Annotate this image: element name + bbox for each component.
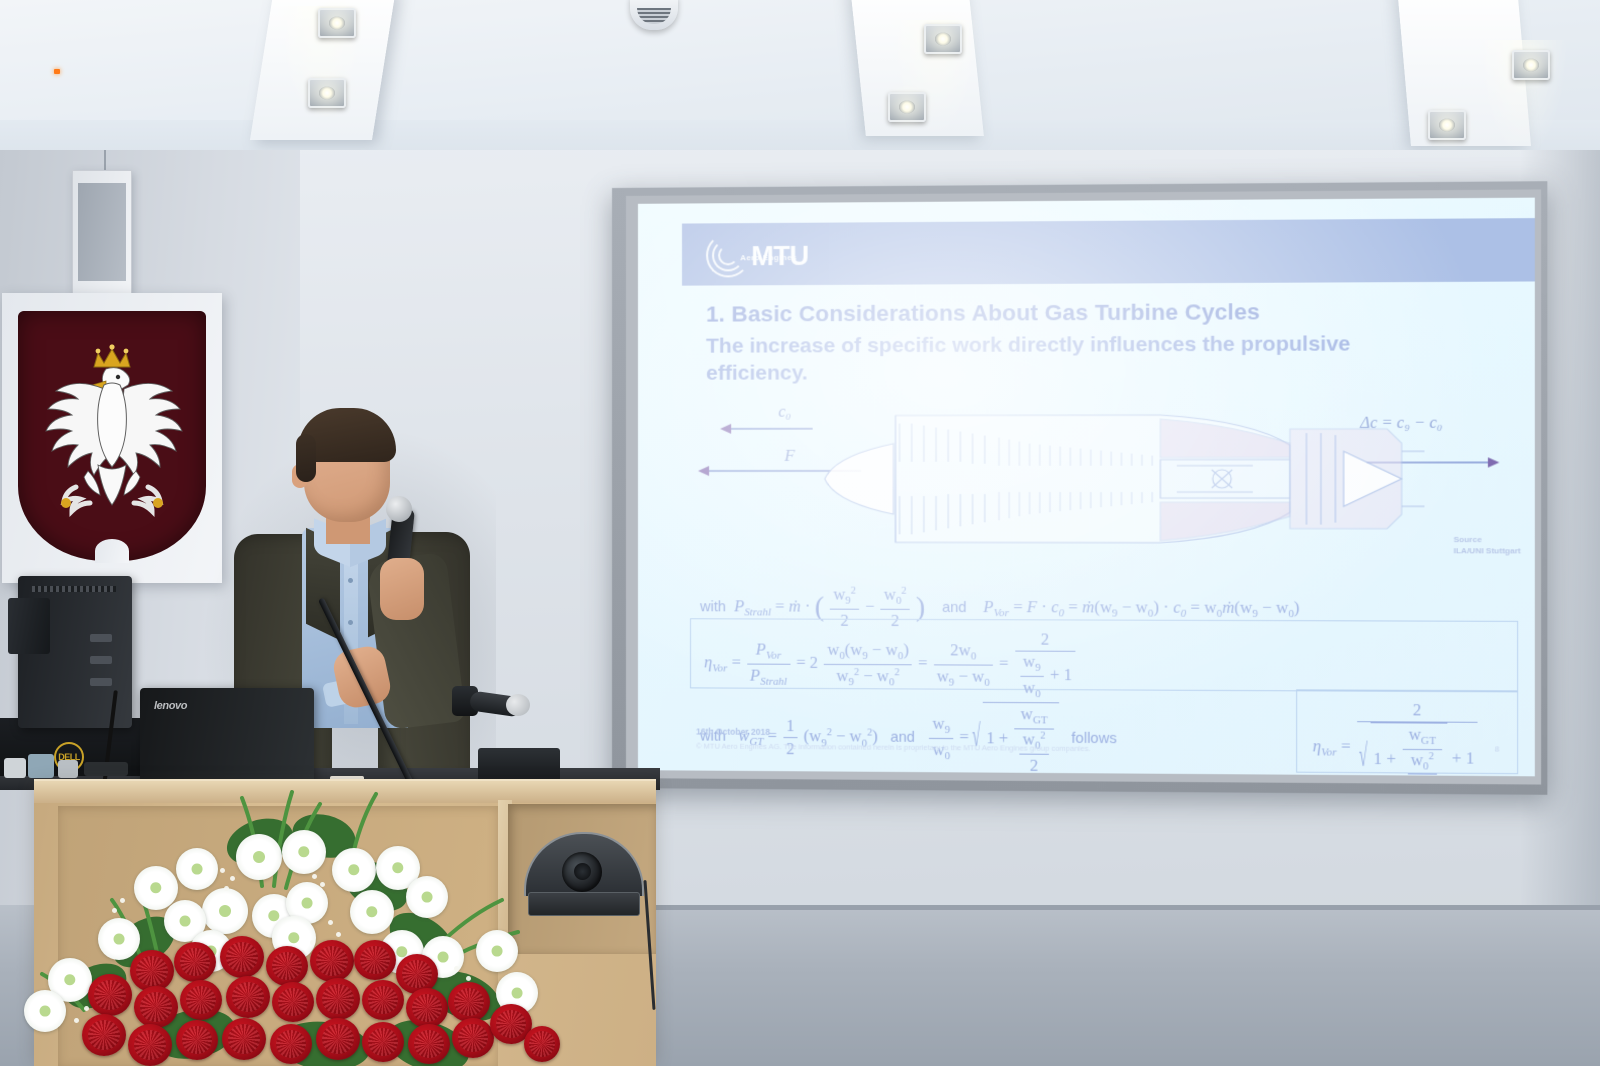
desk-item	[28, 754, 54, 778]
slide-date: 16th October 2018	[696, 726, 770, 736]
red-carnation	[272, 982, 314, 1022]
coat-of-arms-shield	[18, 311, 206, 561]
red-carnation	[88, 974, 132, 1016]
white-gerbera	[176, 848, 218, 890]
hand-holding-microphone	[380, 558, 424, 620]
desk-item	[4, 758, 26, 778]
white-gerbera	[476, 930, 518, 972]
ceiling-spotlight-icon	[924, 24, 962, 54]
wall-speaker	[72, 170, 132, 294]
white-gerbera	[406, 876, 448, 918]
red-carnation	[406, 988, 448, 1028]
red-carnation	[362, 980, 404, 1020]
presentation-photo: MTU Aero Engines 1. Basic Considerations…	[0, 0, 1600, 1066]
red-carnation	[316, 978, 360, 1020]
and-keyword-1: and	[942, 600, 967, 616]
projected-slide: MTU Aero Engines 1. Basic Considerations…	[638, 198, 1535, 777]
slide-header-band: MTU Aero Engines	[682, 218, 1535, 286]
monitor-port	[90, 678, 112, 686]
slide-number: 8	[1495, 744, 1500, 753]
red-carnation	[310, 940, 354, 982]
engine-diagram: c₀ F Δc = c₉ − c₀	[684, 398, 1501, 559]
microphone-windscreen	[506, 694, 530, 716]
white-gerbera	[282, 830, 326, 874]
red-carnation	[226, 976, 270, 1018]
source-label: Source	[1454, 535, 1521, 546]
camera-status-led	[54, 69, 60, 74]
red-carnation	[524, 1026, 560, 1062]
red-carnation	[266, 946, 308, 986]
red-carnation	[452, 1018, 494, 1058]
hair-sideburn	[296, 434, 316, 482]
red-carnation	[408, 1024, 450, 1064]
white-gerbera	[236, 834, 282, 880]
monitor-port	[90, 634, 112, 642]
mtu-tagline: Aero Engines	[740, 253, 797, 262]
with-keyword-1: with	[700, 599, 726, 615]
red-carnation	[220, 936, 264, 978]
red-carnation	[354, 940, 396, 980]
cable-coil	[84, 762, 128, 776]
red-carnation	[362, 1022, 404, 1062]
flower-arrangement	[24, 790, 560, 1066]
ceiling-spotlight-icon	[318, 8, 356, 38]
ceiling-spotlight-icon	[888, 92, 926, 122]
ceiling-spotlight-icon	[1428, 110, 1466, 140]
red-carnation	[222, 1018, 266, 1060]
camera-lens-icon	[562, 852, 602, 892]
shield-bottom-notch	[95, 539, 129, 563]
white-gerbera	[350, 890, 394, 934]
diagram-source: Source ILA/UNI Stuttgart	[1454, 535, 1521, 557]
monitor-port	[90, 656, 112, 664]
red-carnation	[448, 982, 490, 1022]
red-carnation	[316, 1018, 360, 1060]
white-gerbera	[24, 990, 66, 1032]
lenovo-logo: lenovo	[154, 700, 187, 712]
white-eagle-icon	[32, 337, 192, 523]
vesa-mount	[8, 598, 50, 654]
red-carnation	[174, 942, 216, 982]
white-gerbera	[332, 848, 376, 892]
red-carnation	[128, 1024, 172, 1066]
equation-row-3: with wGT = 12 (w92 − w02) and w9w0 = 1 +…	[700, 700, 1117, 776]
red-carnation	[176, 1020, 218, 1060]
white-gerbera	[202, 888, 248, 934]
source-value: ILA/UNI Stuttgart	[1454, 546, 1521, 557]
white-gerbera	[98, 918, 140, 960]
ceiling-spotlight-icon	[1512, 50, 1550, 80]
desk-item	[58, 760, 78, 778]
equation-row-4: ηVor = 2 1 + wGTw022 + 1	[1313, 700, 1480, 777]
equation-row-2: ηVor = PVorPStrahl = 2 w0(w9 − w0)w92 − …	[704, 628, 1077, 701]
slide-subtitle: The increase of specific work directly i…	[706, 331, 1431, 388]
turbofan-cross-section-icon	[684, 398, 1501, 559]
ceiling-spotlight-icon	[308, 78, 346, 108]
floor-wall-junction	[620, 905, 1600, 910]
coat-of-arms-frame	[2, 293, 222, 583]
red-carnation	[180, 980, 222, 1020]
projection-screen: MTU Aero Engines 1. Basic Considerations…	[612, 181, 1547, 795]
red-carnation	[270, 1024, 312, 1064]
red-carnation	[82, 1014, 126, 1056]
red-carnation	[134, 986, 178, 1028]
speaker-cable	[104, 150, 106, 172]
monitor-vent	[32, 586, 116, 592]
slide-title: 1. Basic Considerations About Gas Turbin…	[706, 299, 1260, 328]
